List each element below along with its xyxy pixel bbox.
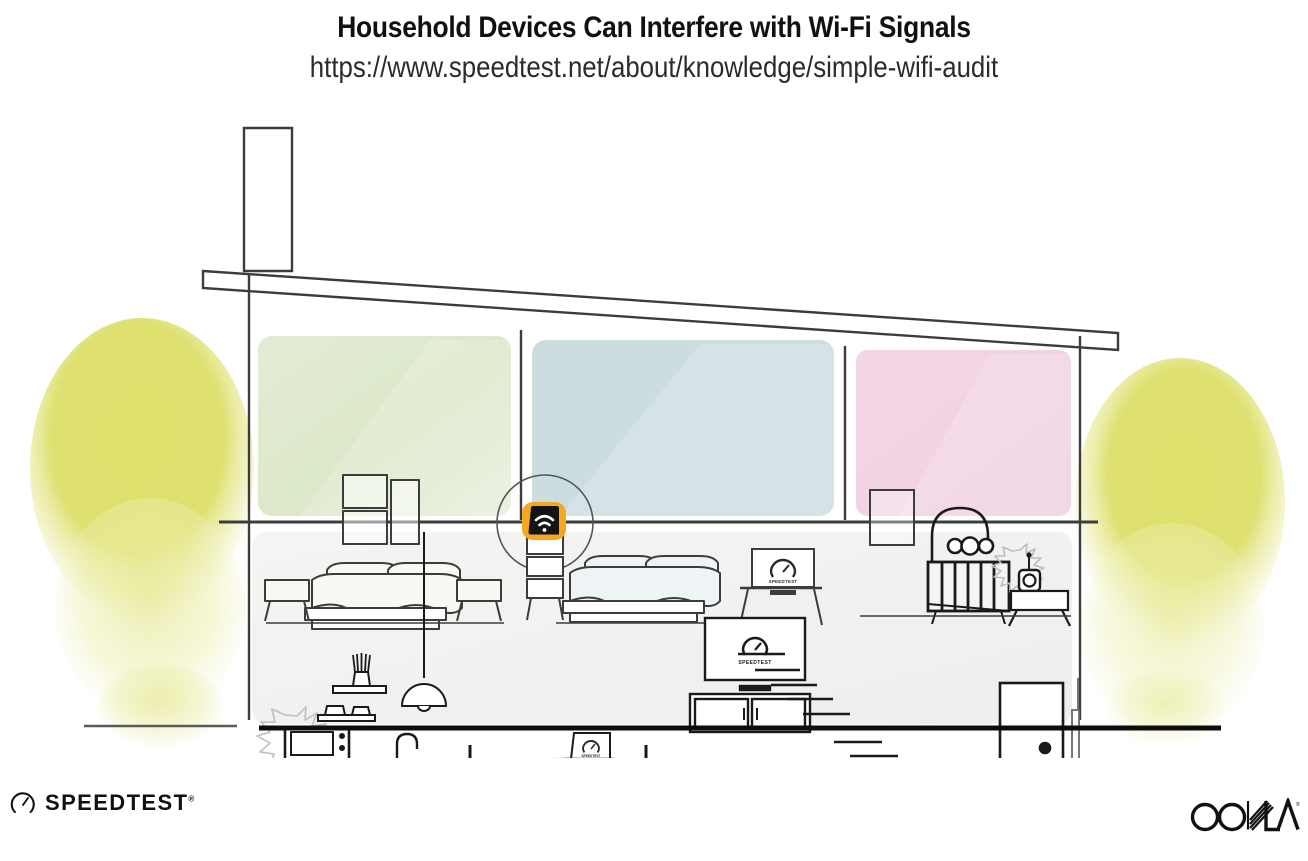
chimney <box>244 128 292 271</box>
microwave-window <box>291 732 333 755</box>
laptop: SPEEDTEST <box>565 733 614 758</box>
ookla-logo: ® <box>1188 798 1300 839</box>
nursery-contents <box>870 490 914 545</box>
speedtest-logo: SPEEDTEST® <box>10 790 194 816</box>
door-frame-right <box>1072 678 1079 758</box>
speedtest-wordmark: SPEEDTEST® <box>45 790 194 816</box>
speedtest-gauge-icon <box>10 790 36 816</box>
monitor-screen-label: SPEEDTEST <box>769 579 798 584</box>
house-illustration: SPEEDTEST <box>0 108 1308 758</box>
page-title: Household Devices Can Interfere with Wi-… <box>78 0 1229 45</box>
footer: SPEEDTEST® ® <box>0 790 1308 850</box>
bed-base-2 <box>563 601 704 613</box>
kitchen-faucet <box>397 734 417 758</box>
bed-plinth-2 <box>570 613 697 622</box>
foliage-left <box>30 318 254 748</box>
nursery-wall-art <box>870 490 914 545</box>
bowl-2 <box>352 707 370 715</box>
dining-chair-left <box>470 745 500 758</box>
foliage-right <box>1075 358 1285 746</box>
svg-text:SPEEDTEST: SPEEDTEST <box>582 754 601 758</box>
speedtest-trademark: ® <box>188 795 194 804</box>
door-knob <box>1040 743 1050 753</box>
bowl-1 <box>325 706 345 715</box>
header: Household Devices Can Interfere with Wi-… <box>0 0 1308 85</box>
source-url: https://www.speedtest.net/about/knowledg… <box>92 45 1217 85</box>
ookla-trademark: ® <box>1296 801 1300 808</box>
tv-stand-base <box>740 686 770 690</box>
tv-screen-label: SPEEDTEST <box>738 660 771 666</box>
front-door[interactable] <box>1000 683 1063 758</box>
bed-plinth <box>312 620 439 629</box>
monitor-stand-base <box>771 591 795 594</box>
ookla-k-stripes <box>1248 801 1273 830</box>
ookla-wordmark-svg: ® <box>1188 798 1300 834</box>
dining-chair-right <box>616 745 646 758</box>
infographic-root: Household Devices Can Interfere with Wi-… <box>0 0 1308 861</box>
wifi-router[interactable] <box>522 502 566 540</box>
